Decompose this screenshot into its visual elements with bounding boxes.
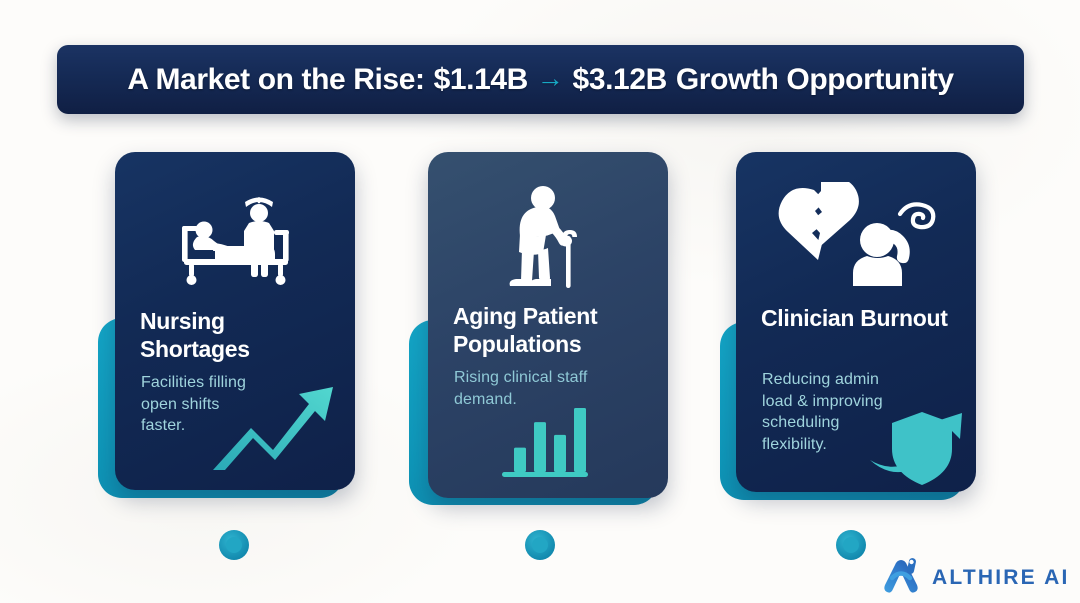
card-subtitle: Reducing admin load & improving scheduli…	[762, 369, 902, 455]
card-heading: Clinician Burnout	[761, 304, 961, 332]
card-clinician-burnout[interactable]: Clinician Burnout Reducing admin load & …	[0, 0, 1080, 603]
althire-logo[interactable]: ALTHIRE AI	[880, 556, 1070, 599]
logo-wordmark: ALTHIRE AI	[932, 566, 1070, 590]
althire-a-mark-icon	[880, 556, 924, 599]
broken-heart-stressed-person-icon	[736, 182, 976, 287]
infographic-canvas: A Market on the Rise: $1.14B → $3.12B Gr…	[0, 0, 1080, 603]
card-body[interactable]: Clinician Burnout Reducing admin load & …	[736, 152, 976, 492]
